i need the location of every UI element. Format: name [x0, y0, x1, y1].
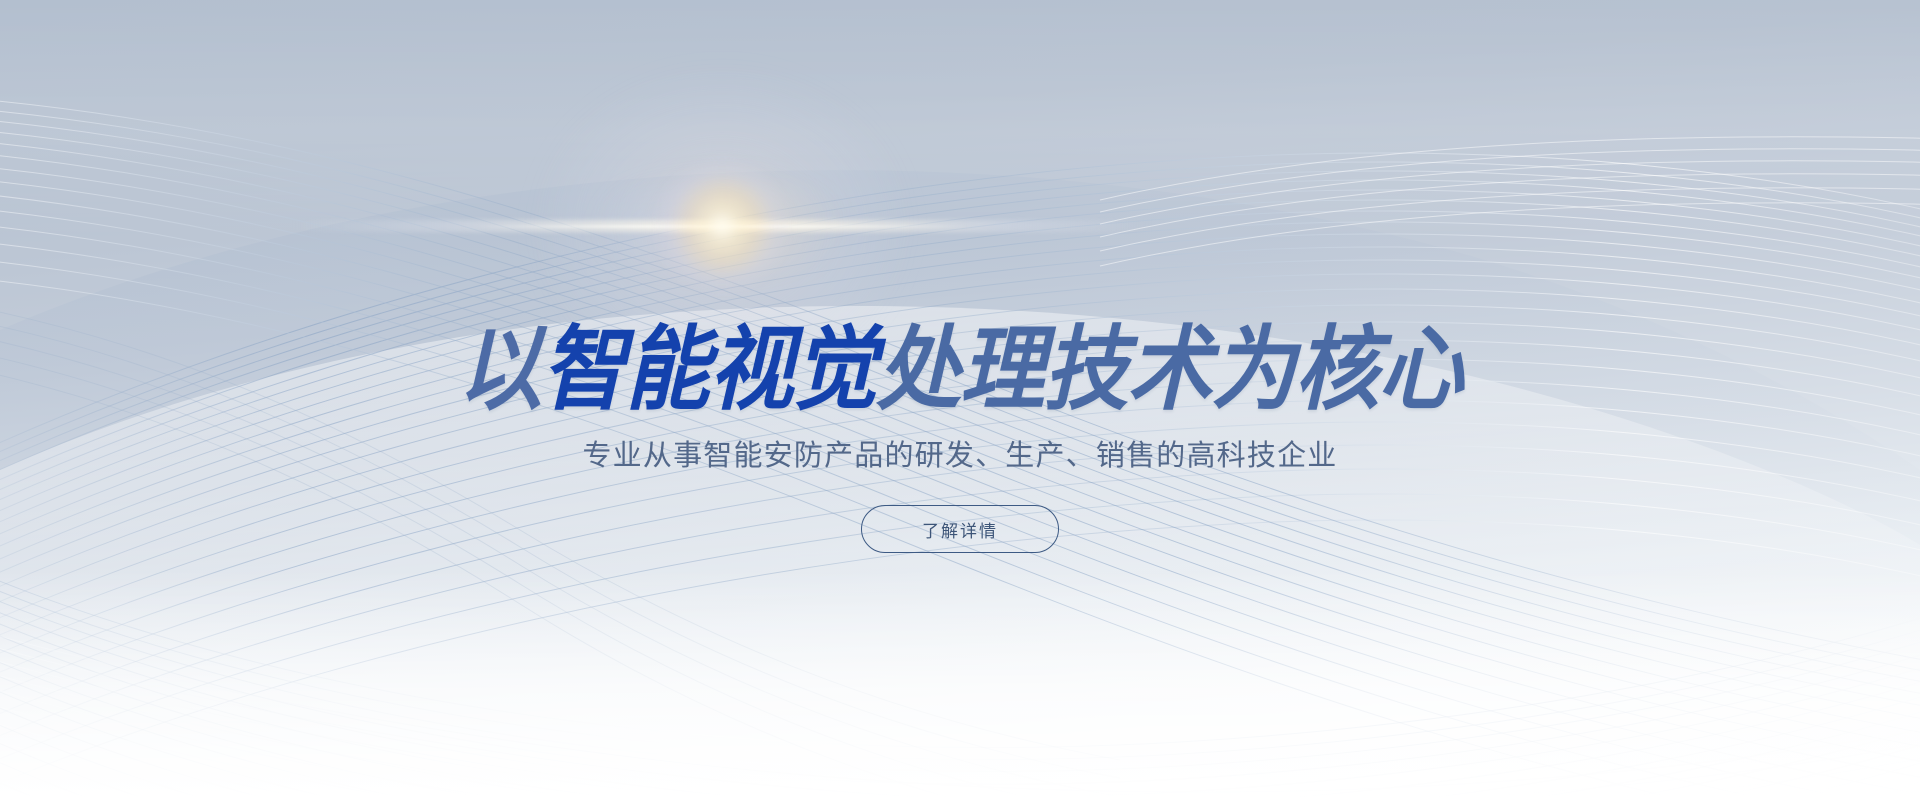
hero-content: 以智能视觉处理技术为核心 专业从事智能安防产品的研发、生产、销售的高科技企业 了… — [0, 0, 1920, 800]
cta-container: 了解详情 — [0, 505, 1920, 553]
learn-more-button[interactable]: 了解详情 — [861, 505, 1059, 553]
hero-banner: 以智能视觉处理技术为核心 专业从事智能安防产品的研发、生产、销售的高科技企业 了… — [0, 0, 1920, 800]
headline-segment-2: 智能视觉 — [541, 316, 876, 423]
page-title: 以智能视觉处理技术为核心 — [77, 324, 1843, 416]
headline-segment-1: 以 — [458, 316, 542, 423]
headline-segment-3: 处理技术为核心 — [876, 316, 1462, 423]
page-subtitle: 专业从事智能安防产品的研发、生产、销售的高科技企业 — [0, 437, 1920, 475]
